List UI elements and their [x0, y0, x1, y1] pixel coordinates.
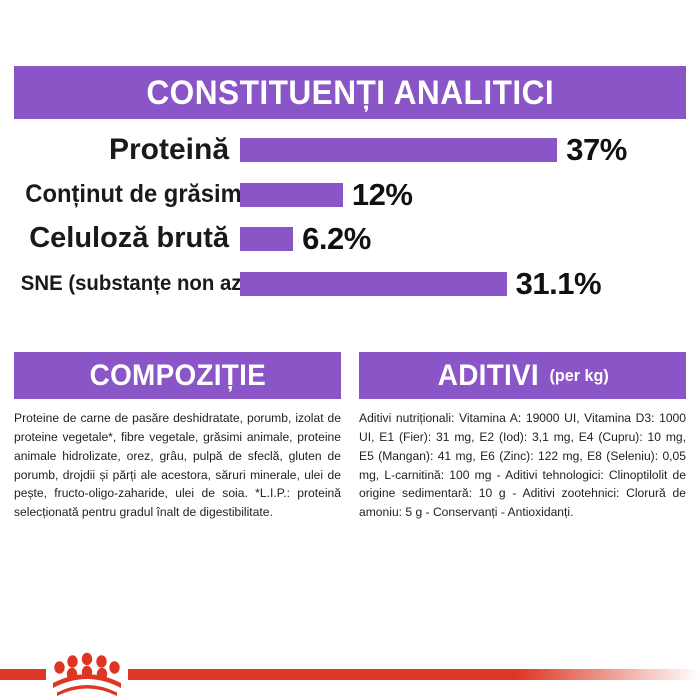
chart-value-label: 37% [566, 134, 627, 165]
additives-heading-suffix: (per kg) [550, 367, 609, 384]
chart-bar-wrapper: 31.1% [240, 268, 686, 299]
royal-canin-crown-icon [50, 650, 124, 700]
chart-value-label: 31.1% [516, 268, 601, 299]
footer-brand-bar [0, 650, 700, 700]
footer-rule-right [128, 669, 700, 680]
chart-bar-wrapper: 12% [240, 179, 686, 210]
chart-row: SNE (substanțe non azotate) 31.1% [14, 268, 686, 299]
chart-category-label: Proteină [14, 135, 240, 165]
chart-bar [240, 227, 293, 251]
chart-category-label: Conținut de grăsimi [25, 182, 240, 207]
chart-row: Celuloză brută 6.2% [14, 223, 686, 254]
composition-text-block: Proteine de carne de pasăre deshidratate… [14, 409, 341, 522]
page-title: CONSTITUENȚI ANALITICI [146, 76, 554, 110]
analytical-constituents-chart: Proteină 37% Conținut de grăsimi 12% Cel… [14, 132, 686, 322]
footer-rule-left [0, 669, 46, 680]
composition-text: Proteine de carne de pasăre deshidratate… [14, 409, 341, 522]
analytical-constituents-banner: CONSTITUENȚI ANALITICI [14, 66, 686, 119]
additives-text-block: Aditivi nutriționali: Vitamina A: 19000 … [359, 409, 686, 522]
additives-text: Aditivi nutriționali: Vitamina A: 19000 … [359, 409, 686, 522]
product-info-card: CONSTITUENȚI ANALITICI Proteină 37% Conț… [0, 0, 700, 700]
additives-banner: ADITIVI (per kg) [359, 352, 686, 399]
chart-bar [240, 272, 507, 296]
chart-value-label: 6.2% [302, 223, 371, 254]
composition-banner: COMPOZIȚIE [14, 352, 341, 399]
chart-bar-wrapper: 6.2% [240, 223, 686, 254]
chart-bar [240, 183, 343, 207]
chart-category-label: Celuloză brută [14, 224, 240, 253]
chart-category-label: SNE (substanțe non azotate) [21, 273, 240, 294]
composition-heading: COMPOZIȚIE [89, 361, 265, 391]
chart-bar-wrapper: 37% [240, 134, 686, 165]
additives-heading: ADITIVI [438, 361, 539, 391]
chart-row: Proteină 37% [14, 134, 686, 165]
chart-bar [240, 138, 557, 162]
chart-row: Conținut de grăsimi 12% [14, 179, 686, 210]
chart-value-label: 12% [352, 179, 413, 210]
